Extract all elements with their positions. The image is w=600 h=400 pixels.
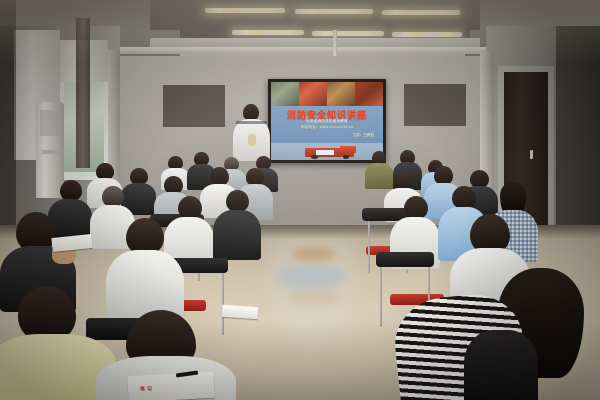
ceiling-light-1: [205, 8, 285, 13]
notebook[interactable]: [222, 305, 259, 319]
dark-wall-panel-left: [163, 85, 225, 127]
left-wall-shadow: [0, 0, 16, 260]
slide-presenter: 主讲：王教官: [352, 133, 374, 138]
floor-reflection-warm: [292, 246, 336, 262]
audience-body: [213, 210, 261, 260]
speaker-hands: [248, 134, 256, 146]
lecture-room-photo: 消防安全知识讲座 河北省消防总队宣传教育 网站地址：www.xxxxxx119.…: [0, 0, 600, 400]
slide-photo-2: [299, 82, 327, 106]
slide-fire-truck-graphic: [271, 143, 383, 160]
notebook-text: 笔记: [140, 385, 154, 393]
ceiling-light-2: [295, 9, 373, 14]
ac-vent-icon: [40, 110, 60, 136]
floor-reflection-screen: [276, 264, 346, 290]
audience-head: [452, 186, 476, 209]
door-handle-icon[interactable]: [530, 150, 533, 159]
ceiling-beam-1: [150, 38, 480, 47]
fire-truck-window-icon: [316, 150, 334, 154]
audience-body: [365, 163, 393, 189]
slide-subtitle-line-2: 网站地址：www.xxxxxx119.cn: [278, 125, 377, 131]
chair-back: [376, 252, 434, 267]
audience-head: [178, 196, 202, 219]
dark-wall-panel-right: [404, 84, 466, 126]
slide-subtitle: 河北省消防总队宣传教育 网站地址：www.xxxxxx119.cn: [278, 119, 377, 130]
ceiling-light-5: [312, 31, 384, 36]
speaker-shoulder-insignia: [236, 121, 267, 124]
fire-truck-wheel-icon: [311, 155, 318, 159]
ceiling-light-3: [382, 10, 460, 15]
ceiling-light-4: [232, 30, 304, 35]
audience-bag: [464, 330, 538, 400]
window-curtain-dark: [76, 18, 90, 168]
floor-standing-air-conditioner[interactable]: [36, 102, 64, 198]
slide-photo-4: [355, 82, 383, 106]
slide-photo-1: [271, 82, 299, 106]
fire-truck-cab-icon: [340, 146, 356, 154]
floor-reflection-light: [288, 288, 340, 306]
chair-leg: [380, 267, 382, 327]
projection-screen: 消防安全知识讲座 河北省消防总队宣传教育 网站地址：www.xxxxxx119.…: [268, 79, 386, 163]
chair-leg: [368, 221, 370, 273]
ceiling-light-6: [392, 32, 462, 37]
audience-head: [102, 186, 124, 207]
notebook[interactable]: 笔记: [127, 372, 214, 400]
slide-photo-3: [327, 82, 355, 106]
slide-photo-strip: [271, 82, 383, 106]
fire-truck-wheel-icon: [343, 155, 350, 159]
audience-head: [226, 190, 249, 212]
projected-slide: 消防安全知识讲座 河北省消防总队宣传教育 网站地址：www.xxxxxx119.…: [271, 82, 383, 160]
audience-head: [60, 180, 82, 201]
audience-head: [404, 196, 428, 219]
ac-display-icon: [42, 150, 58, 154]
